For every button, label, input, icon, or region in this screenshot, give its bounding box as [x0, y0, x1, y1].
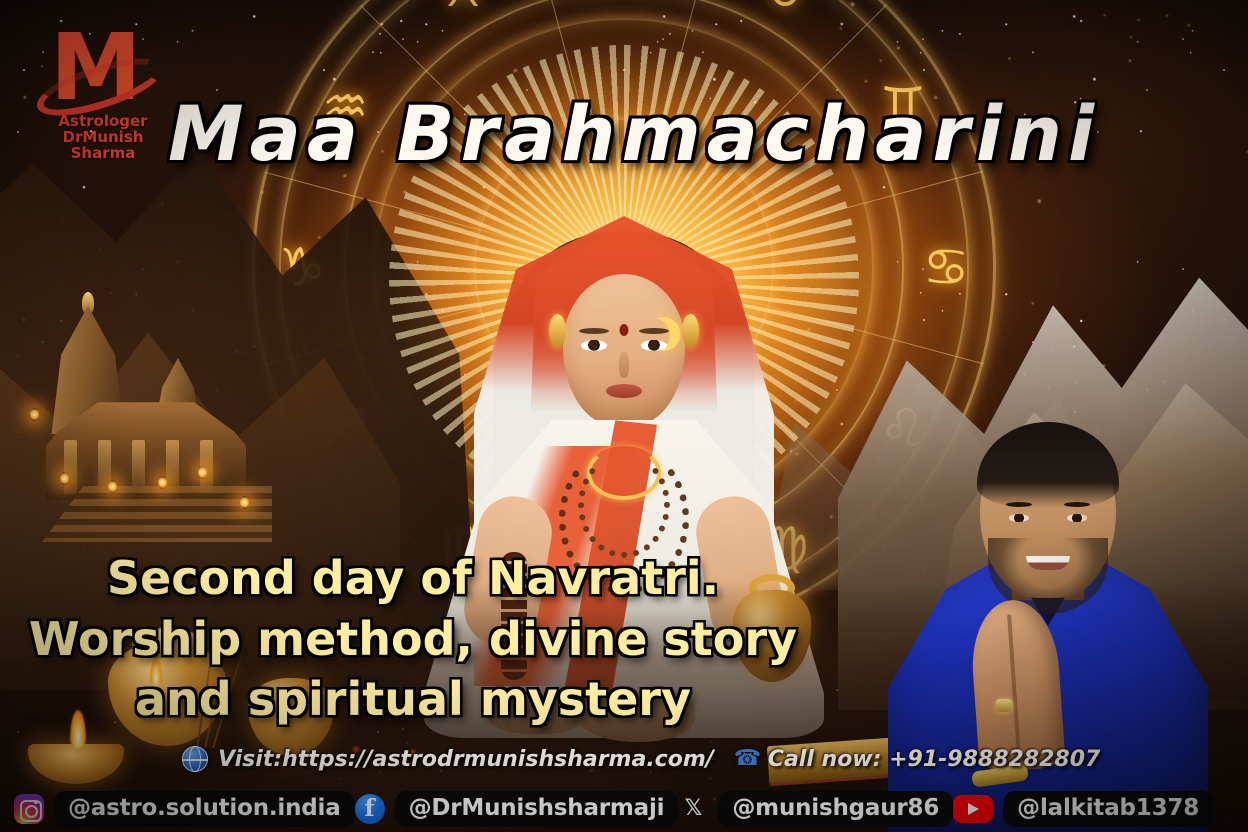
social-item-x-twitter[interactable]: 𝕏 @munishgaur86 [678, 791, 953, 827]
temple-oil-lamp [60, 472, 69, 485]
instagram-handle[interactable]: @astro.solution.india [54, 791, 355, 827]
goddess-eye [581, 340, 607, 351]
website-link[interactable]: Visit:https://astrodrmunishsharma.com/ [218, 747, 714, 772]
x-twitter-icon[interactable]: 𝕏 [678, 794, 708, 824]
social-item-youtube[interactable]: @lalkitab1378 [953, 791, 1213, 827]
presenter-eye [1067, 514, 1087, 522]
brand-logo[interactable]: M Astrologer DrMunish Sharma [38, 22, 168, 162]
phone-icon: ☎ [734, 747, 758, 771]
poster-canvas: ♈♉♊♋♌♍♎♏♐♑♒♓ [0, 0, 1248, 832]
goddess-eye [641, 340, 667, 351]
temple-oil-lamp [108, 480, 117, 493]
logo-wordmark: Astrologer DrMunish Sharma [38, 114, 168, 161]
presenter-eye [1009, 514, 1029, 522]
goddess-earring [549, 314, 566, 348]
goddess-bindi [620, 324, 629, 336]
presenter-hair [977, 422, 1119, 508]
temple-oil-lamp [240, 496, 249, 509]
poster-subtitle: Second day of Navratri. Worship method, … [18, 548, 808, 730]
goddess-eyebrow [579, 328, 609, 334]
himalayan-temple [12, 300, 272, 530]
goddess-lips [606, 384, 642, 398]
temple-column [166, 440, 179, 494]
goddess-face [563, 274, 685, 426]
globe-icon [182, 746, 208, 772]
youtube-handle[interactable]: @lalkitab1378 [1003, 791, 1213, 827]
temple-column [64, 440, 77, 494]
page-title: Maa Brahmacharini [168, 96, 1128, 172]
x-twitter-handle[interactable]: @munishgaur86 [718, 791, 953, 827]
taurus-zodiac-icon: ♉ [739, 0, 831, 35]
youtube-icon[interactable] [953, 795, 993, 823]
temple-column [132, 440, 145, 494]
temple-oil-lamp [30, 408, 39, 421]
pisces-zodiac-icon: ♓ [417, 0, 509, 35]
social-bar: @astro.solution.india f @DrMunishsharmaj… [0, 786, 1248, 832]
cancer-zodiac-icon: ♋ [900, 222, 992, 314]
temple-oil-lamp [158, 476, 167, 489]
phone-number[interactable]: Call now: +91-9888282807 [768, 747, 1101, 772]
temple-oil-lamp [198, 466, 207, 479]
social-item-instagram[interactable]: @astro.solution.india [14, 791, 355, 827]
facebook-icon[interactable]: f [355, 794, 385, 824]
presenter-finger-ring [996, 699, 1012, 712]
contact-row: Visit:https://astrodrmunishsharma.com/ ☎… [182, 742, 1062, 776]
instagram-icon[interactable] [14, 794, 44, 824]
goddess-eyebrow [639, 328, 669, 334]
goddess-rudraksha-mala-inner [578, 452, 670, 558]
goddess-nose [619, 352, 629, 378]
facebook-handle[interactable]: @DrMunishsharmaji [395, 791, 679, 827]
goddess-earring [682, 314, 699, 348]
logo-line-3: Sharma [38, 146, 168, 162]
social-item-facebook[interactable]: f @DrMunishsharmaji [355, 791, 679, 827]
